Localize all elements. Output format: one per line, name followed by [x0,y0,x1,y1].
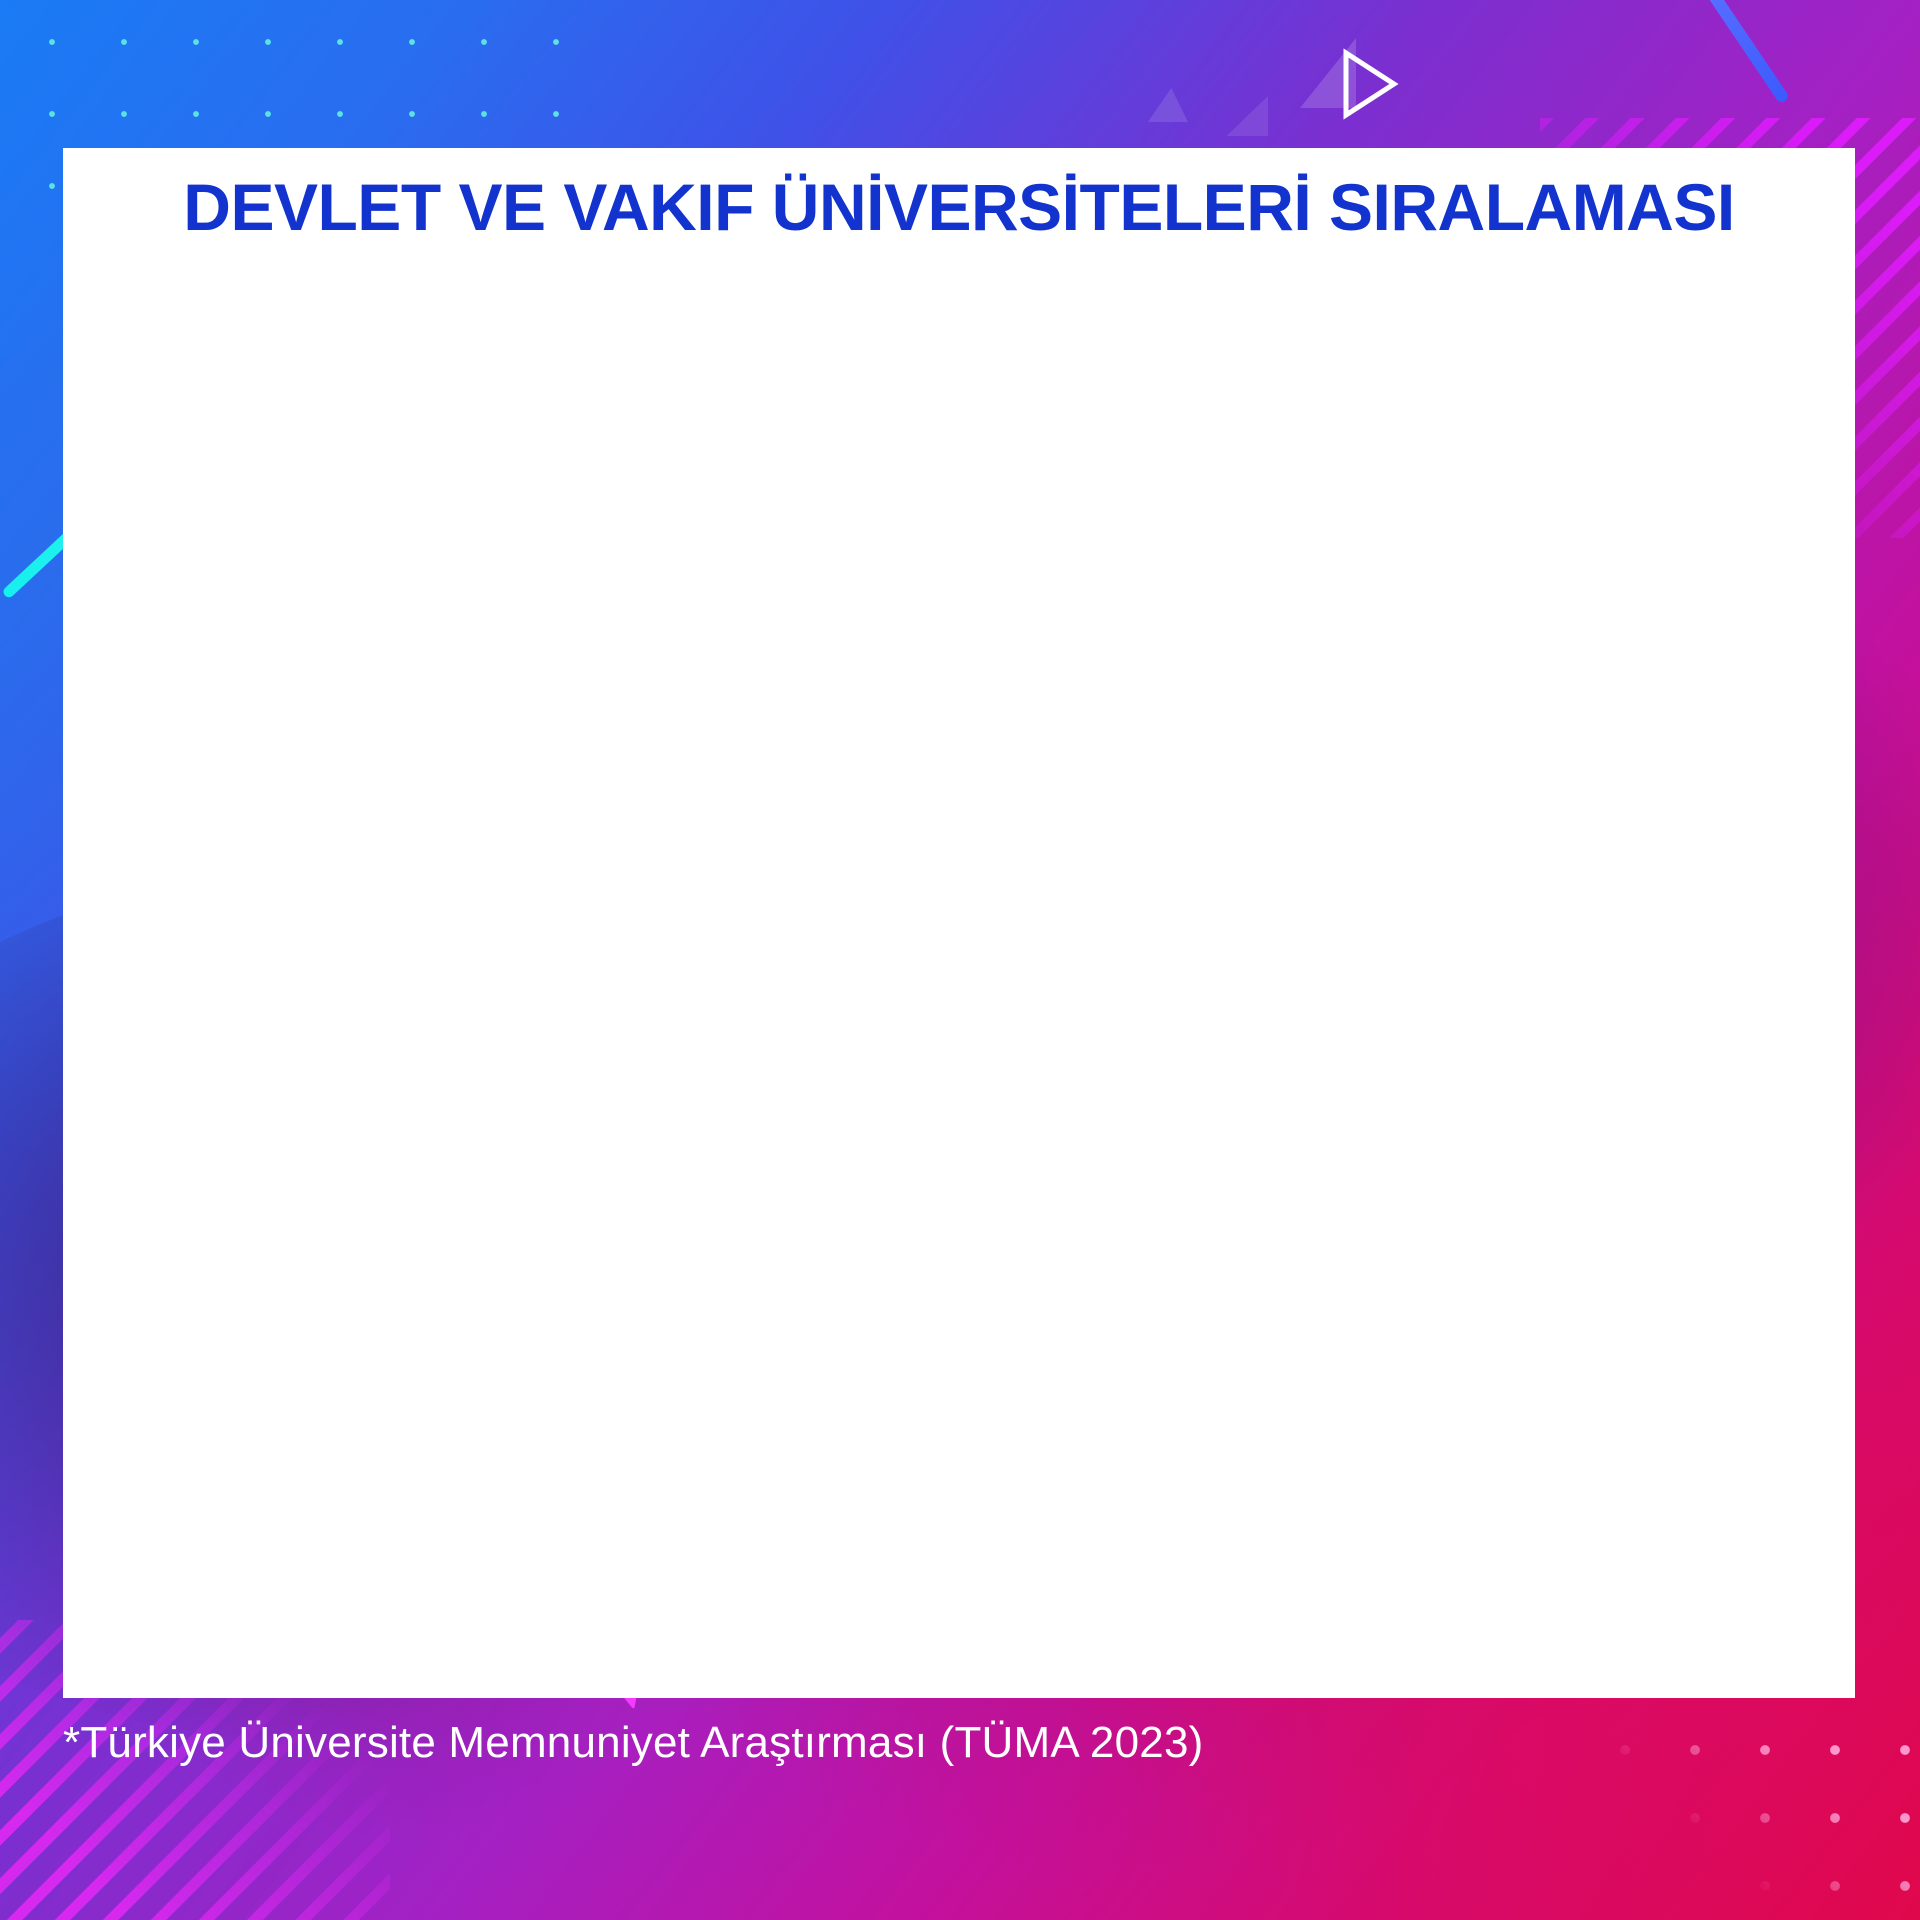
data-label-2018: 107 [653,1298,708,1335]
x-tick-2022: 2022 [1459,1660,1550,1706]
data-label-2019: 103 [859,1266,914,1303]
x-tick-2021: 2021 [1253,1660,1344,1706]
subtitle-band: Genel Sıralama [85,265,1833,403]
chart-subtitle: Genel Sıralama [746,301,1172,368]
data-point-2018[interactable] [664,1363,698,1397]
data-point-2016[interactable] [253,1539,287,1573]
x-tick-2019: 2019 [841,1660,932,1706]
data-point-2020[interactable] [1076,1273,1110,1307]
data-point-2017[interactable] [458,1438,492,1472]
data-point-2019[interactable] [870,1331,904,1365]
footnote: *Türkiye Üniversite Memnuniyet Araştırma… [63,1718,1203,1768]
title-bar: DEVLET VE VAKIF ÜNİVERSİTELERİ SIRALAMAS… [63,148,1855,265]
data-label-2022: 63 [1487,1052,1524,1089]
plot-area: 141 122 107 103 91 46 63 47 2016 2017 20… [85,410,1833,1676]
x-tick-2020: 2020 [1047,1660,1138,1706]
line-chart: 141 122 107 103 91 46 63 47 2016 2017 20… [85,410,1833,1676]
content-card: DEVLET VE VAKIF ÜNİVERSİTELERİ SIRALAMAS… [63,148,1855,1698]
data-point-2023[interactable] [1694,1028,1728,1062]
data-label-2020: 91 [1075,1208,1112,1245]
data-line [270,1038,1711,1556]
x-tick-2016: 2016 [224,1660,315,1706]
data-label-2023: 47 [1693,963,1730,1000]
data-label-2017: 122 [447,1373,502,1410]
subtitle-divider [85,403,1833,410]
chart-panel: Genel Sıralama [85,265,1833,1676]
x-tick-2018: 2018 [635,1660,726,1706]
x-tick-2017: 2017 [429,1660,520,1706]
data-point-2022[interactable] [1488,1117,1522,1151]
x-tick-2023: 2023 [1665,1660,1756,1706]
dot-grid-pattern-bottom-right [1580,1710,1920,1920]
page-title: DEVLET VE VAKIF ÜNİVERSİTELERİ SIRALAMAS… [183,169,1734,245]
data-point-2021[interactable] [1282,1021,1316,1055]
infographic-canvas: DEVLET VE VAKIF ÜNİVERSİTELERİ SIRALAMAS… [0,0,1920,1920]
data-label-2016: 141 [242,1474,297,1511]
data-label-2021: 46 [1281,956,1318,993]
